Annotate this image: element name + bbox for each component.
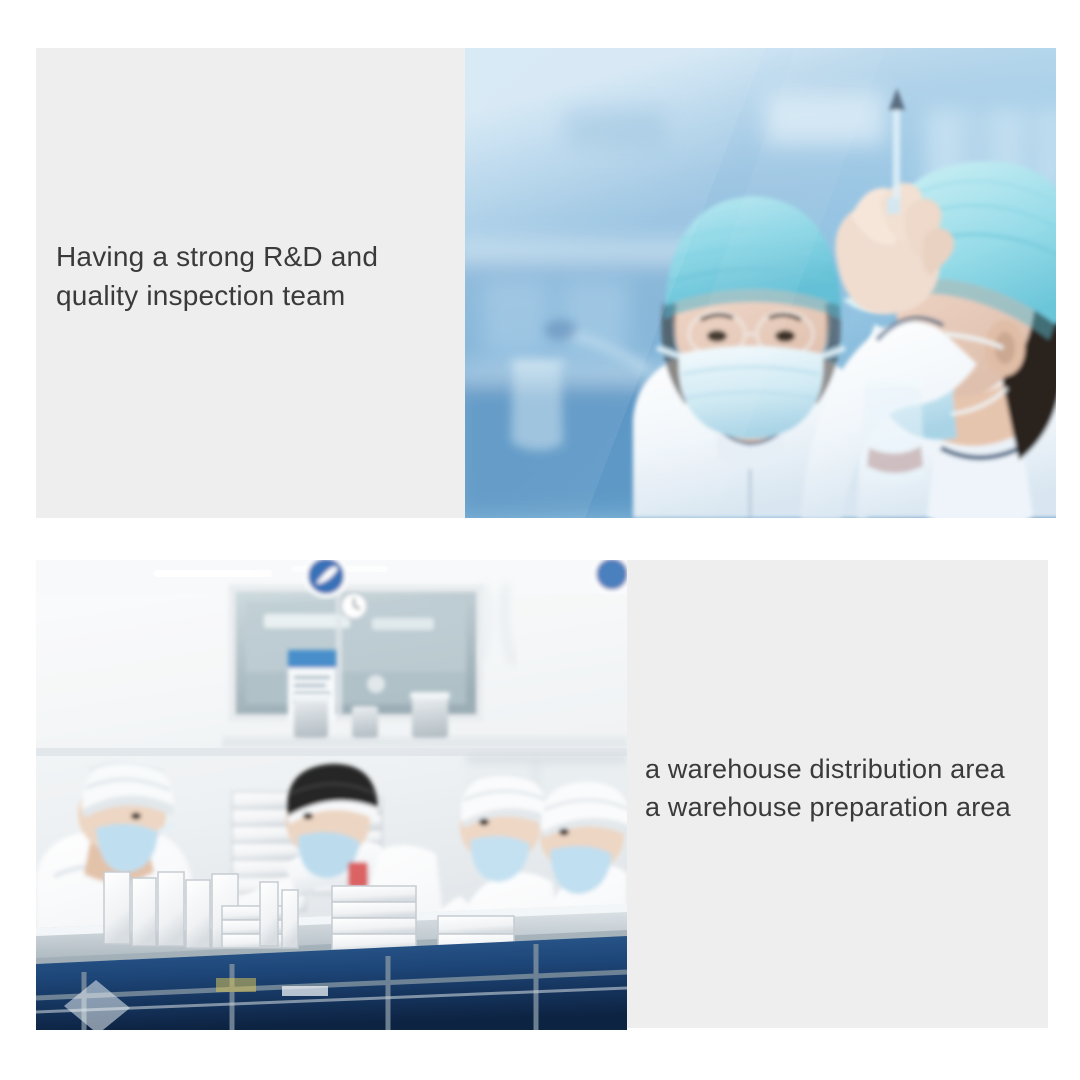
lab-scene-illustration [465, 48, 1056, 518]
bottom-caption-panel: a warehouse distribution area a warehous… [627, 560, 1048, 1028]
top-caption-line-2: quality inspection team [56, 277, 456, 316]
warehouse-scene-illustration [36, 560, 627, 1030]
bottom-caption: a warehouse distribution area a warehous… [645, 750, 1055, 827]
bottom-section: a warehouse distribution area a warehous… [36, 560, 1048, 1030]
top-caption: Having a strong R&D and quality inspecti… [56, 238, 456, 315]
top-caption-line-1: Having a strong R&D and [56, 238, 456, 277]
bottom-caption-line-1: a warehouse distribution area [645, 750, 1055, 788]
top-caption-panel: Having a strong R&D and quality inspecti… [36, 48, 465, 518]
bottom-caption-line-2: a warehouse preparation area [645, 788, 1055, 826]
lab-quality-inspection-photo [465, 48, 1056, 518]
top-section: Having a strong R&D and quality inspecti… [36, 48, 1056, 518]
warehouse-packing-photo [36, 560, 627, 1030]
